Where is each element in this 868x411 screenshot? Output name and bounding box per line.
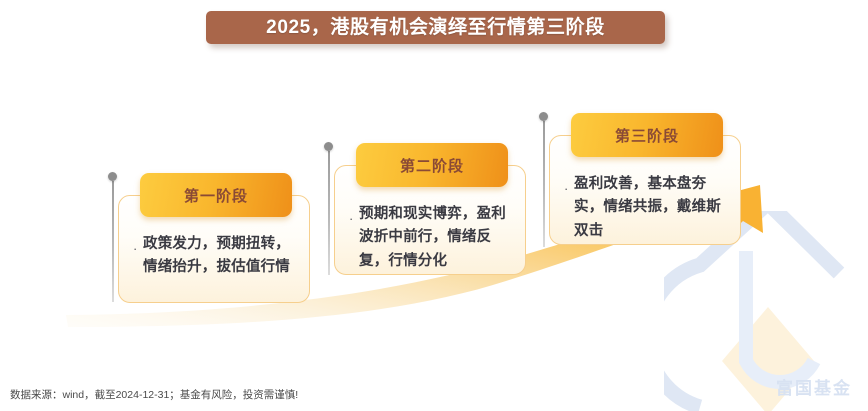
stage-connector-dot-3 <box>539 112 548 121</box>
stage-card-2-header-label: 第二阶段 <box>400 155 464 176</box>
stage-card-1[interactable]: 第一阶段 · 政策发力，预期扭转，情绪抬升，拔估值行情 <box>118 173 310 303</box>
page-title: 2025，港股有机会演绎至行情第三阶段 <box>266 18 605 37</box>
bullet-icon: · <box>564 173 574 243</box>
stage-connector-dot-1 <box>108 172 117 181</box>
stage-card-1-text: 政策发力，预期扭转，情绪抬升，拔估值行情 <box>143 233 301 280</box>
stage-card-2-content: · 预期和现实博弈，盈利波折中前行，情绪反复，行情分化 <box>349 203 517 273</box>
slide-title-banner: 2025，港股有机会演绎至行情第三阶段 <box>206 11 665 44</box>
stage-card-3-content: · 盈利改善，基本盘夯实，情绪共振，戴维斯双击 <box>564 173 732 243</box>
stage-card-2[interactable]: 第二阶段 · 预期和现实博弈，盈利波折中前行，情绪反复，行情分化 <box>334 143 526 275</box>
watermark-label: 富国基金 <box>776 374 852 399</box>
stage-card-1-header: 第一阶段 <box>140 173 292 217</box>
stage-card-3-text: 盈利改善，基本盘夯实，情绪共振，戴维斯双击 <box>574 173 732 243</box>
stage-card-3[interactable]: 第三阶段 · 盈利改善，基本盘夯实，情绪共振，戴维斯双击 <box>549 113 741 245</box>
stage-connector-line-2 <box>328 151 330 275</box>
bullet-icon: · <box>349 203 359 273</box>
bullet-icon: · <box>133 233 143 280</box>
stage-card-1-header-label: 第一阶段 <box>184 185 248 206</box>
stage-card-3-header: 第三阶段 <box>571 113 723 157</box>
stage-card-1-content: · 政策发力，预期扭转，情绪抬升，拔估值行情 <box>133 233 301 280</box>
stage-card-2-header: 第二阶段 <box>356 143 508 187</box>
stage-connector-line-1 <box>112 181 114 302</box>
stage-connector-dot-2 <box>324 142 333 151</box>
stage-connector-line-3 <box>543 121 545 247</box>
stage-card-2-text: 预期和现实博弈，盈利波折中前行，情绪反复，行情分化 <box>359 203 517 273</box>
stage-card-3-header-label: 第三阶段 <box>615 125 679 146</box>
data-source-footnote: 数据来源：wind，截至2024-12-31；基金有风险，投资需谨慎! <box>10 387 298 402</box>
slide-canvas: 2025，港股有机会演绎至行情第三阶段 富国基金 <box>0 0 868 411</box>
